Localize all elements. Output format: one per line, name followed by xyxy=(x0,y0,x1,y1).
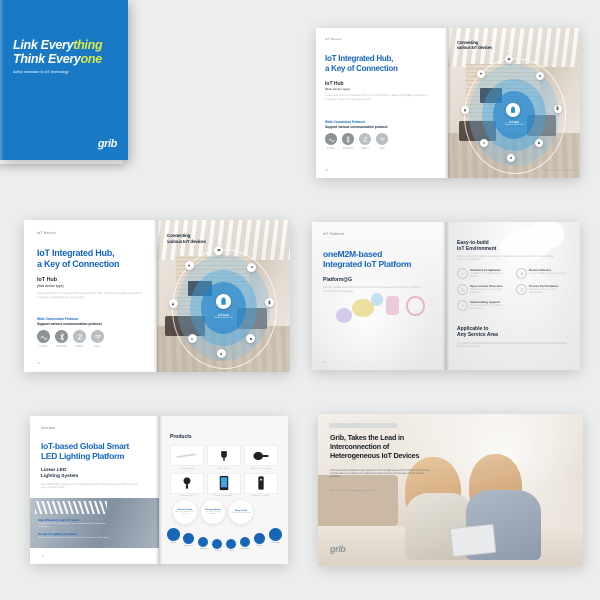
device-node-camera xyxy=(505,55,513,63)
bottom-section-title: Applicable to Any Service Area xyxy=(457,326,498,338)
wave-icon xyxy=(325,133,337,145)
photo-block-2: Design of Lighting and Space Modular des… xyxy=(38,532,116,540)
cover-headline-line1-accent: thing xyxy=(73,38,102,52)
closing-title: Grib, Takes the Lead in Interconnection … xyxy=(330,434,470,460)
feature-text: Proven PerformanceVerified in numerous r… xyxy=(529,284,569,294)
page-title: IoT Integrated Hub, a Key of Connection xyxy=(37,248,149,270)
product-cell[interactable]: Multi sensor xyxy=(207,445,241,470)
service-chip-arc: Home Apartment Hospital Factory Office W… xyxy=(165,528,283,556)
cover-subtitle: Active innovator in IoT technology xyxy=(13,70,109,74)
highlight-circle: Easy Install Plug and play installation xyxy=(229,500,253,524)
hub-center-caption: IoT Hub Wireless device hub xyxy=(214,313,233,319)
cover-headline-line2-accent: one xyxy=(81,52,102,66)
protocol-label: ZigBee xyxy=(361,147,369,150)
tablet-device xyxy=(449,524,496,558)
cube-icon xyxy=(457,284,468,295)
bluetooth-icon xyxy=(342,133,354,145)
wave-icon xyxy=(37,330,50,343)
photo-footnote: * The image is for reference only xyxy=(545,170,574,172)
products-grid: Linear Lighting Multi sensor Basic Smart… xyxy=(170,445,278,497)
protocol-item: Z-Wave xyxy=(37,330,50,348)
service-chip[interactable] xyxy=(226,539,236,549)
page-number: 03 xyxy=(37,361,40,365)
mobile-app-icon xyxy=(207,473,241,494)
service-chip[interactable] xyxy=(183,533,194,544)
protocol-item: Wi-Fi xyxy=(91,330,104,348)
device-node-bulb xyxy=(185,261,194,270)
remote-icon xyxy=(244,473,278,494)
feature-item: Device DeliveryFast and stable device pr… xyxy=(516,268,569,279)
platform-right-page: Easy-to-build IoT Environment Build an I… xyxy=(446,222,580,370)
spread-led: Solution IoT-based Global Smart LED Ligh… xyxy=(30,416,288,564)
section-body: Provide stabilized and efficient IoT ser… xyxy=(323,286,431,293)
service-chip[interactable] xyxy=(254,533,265,544)
smart-bulb-icon xyxy=(244,445,278,466)
product-cell[interactable]: Remote Controller xyxy=(244,473,278,498)
brochure-mockup-canvas: Link Everything Think Everyone Active in… xyxy=(0,0,600,600)
protocol-title: Wide Connection Protocol xyxy=(37,317,78,321)
hub-small-right-page: Connecting various IoT devices xyxy=(448,28,580,178)
linear-lamp-icon xyxy=(170,445,204,466)
service-chip[interactable] xyxy=(167,528,180,541)
shield-icon xyxy=(516,284,527,295)
protocol-label: Bluetooth xyxy=(56,345,67,348)
plug-icon xyxy=(516,268,527,279)
hub-large-left-page: IoT Device IoT Integrated Hub, a Key of … xyxy=(24,220,157,372)
hub-center-node xyxy=(216,294,231,309)
page-number: 07 xyxy=(323,360,326,364)
feature-text: Device DeliveryFast and stable device pr… xyxy=(529,268,566,275)
service-chip[interactable] xyxy=(212,539,222,549)
feature-item: Standard ComplianceoneM2M / TTA standard… xyxy=(457,268,510,279)
closing-brand-logo: grib xyxy=(330,544,345,554)
photo-caption: Connecting various IoT devices xyxy=(457,40,492,50)
spread-hub-small: IoT Device IoT Integrated Hub, a Key of … xyxy=(316,28,580,178)
closing-body: Grib has already contributed to the expa… xyxy=(330,470,434,479)
wifi-icon xyxy=(376,133,388,145)
section-body: Collect and control IoT devices that sup… xyxy=(325,94,430,101)
highlight-circles: Smart Control Wireless control of every … xyxy=(173,500,253,524)
check-badge-icon xyxy=(457,268,468,279)
section-body: Collect and control IoT devices that sup… xyxy=(37,292,145,299)
protocol-label: Wi-Fi xyxy=(95,345,101,348)
spread-closing: Grib, Takes the Lead in Interconnection … xyxy=(318,414,583,566)
device-node-speaker xyxy=(536,72,544,80)
service-chip[interactable] xyxy=(240,537,250,547)
feature-item: Open source StructureBased on open sourc… xyxy=(457,284,510,295)
product-cell[interactable]: Smart sensor xyxy=(170,473,204,498)
product-cell[interactable]: Basic Smart Lighting xyxy=(244,445,278,470)
feature-text: Open source StructureBased on open sourc… xyxy=(470,284,510,294)
blob-purple xyxy=(336,308,352,323)
page-number: 03 xyxy=(325,168,328,172)
wall-shelf xyxy=(329,423,398,428)
page-title: oneM2M-based Integrated IoT Platform xyxy=(323,249,441,270)
photo-caption: Connecting various IoT devices xyxy=(167,233,206,244)
device-node-switch xyxy=(217,349,226,358)
feature-item: Proven PerformanceVerified in numerous r… xyxy=(516,284,569,295)
device-node-phone xyxy=(554,105,562,113)
protocol-item: Bluetooth xyxy=(55,330,68,348)
cover-brand-logo: grib xyxy=(98,138,117,150)
highlight-circle: Energy Saving Up to 80% energy reduction xyxy=(201,500,225,524)
cover-headline-line1-plain: Link Every xyxy=(13,38,73,52)
led-left-page: Solution IoT-based Global Smart LED Ligh… xyxy=(30,416,159,564)
section-subtitle-secondary: (Hub device type) xyxy=(325,87,350,91)
couch-object xyxy=(318,475,398,527)
section-subtitle: IoT Hub xyxy=(37,277,57,283)
protocol-item: Wi-Fi xyxy=(376,133,388,150)
protocol-label: ZigBee xyxy=(76,345,84,348)
blob-pink xyxy=(386,296,399,315)
closing-page: Grib, Takes the Lead in Interconnection … xyxy=(318,414,583,566)
protocol-icon-row: Z-Wave Bluetooth ZigBee xyxy=(325,133,388,150)
right-section-body: Build an IoT service platform for variou… xyxy=(457,255,557,261)
highlight-circle: Smart Control Wireless control of every … xyxy=(173,500,197,524)
protocol-title: Wide Connection Protocol xyxy=(325,120,365,124)
section-subtitle: Linear LED Lighting System xyxy=(41,468,78,480)
section-subtitle: Platform@G xyxy=(323,277,352,283)
hub-center-node xyxy=(506,103,520,117)
hub-small-left-page: IoT Device IoT Integrated Hub, a Key of … xyxy=(316,28,448,178)
device-node-speaker xyxy=(247,263,256,272)
protocol-item: ZigBee xyxy=(359,133,371,150)
cloud-puff xyxy=(529,222,564,249)
spread-platform: IoT Platform oneM2M-based Integrated IoT… xyxy=(312,222,580,370)
service-chip[interactable] xyxy=(269,528,282,541)
eyebrow-label: Solution xyxy=(41,426,55,430)
led-photo-block: High Efficiency Light for Space Energy e… xyxy=(30,498,159,548)
protocol-item: Z-Wave xyxy=(325,133,337,150)
hub-center-caption: IoT Hub Wireless device hub xyxy=(505,121,523,126)
eyebrow-label: IoT Platform xyxy=(323,232,344,236)
sensor-node-icon xyxy=(170,473,204,494)
right-section-title: Easy-to-build IoT Environment xyxy=(457,240,496,252)
feature-text: Interworking supportSupports 3rd party I… xyxy=(470,300,510,310)
cover-headline: Link Everything Think Everyone xyxy=(13,38,121,66)
device-node-bulb xyxy=(477,70,485,78)
link-icon xyxy=(457,300,468,311)
multi-sensor-icon xyxy=(207,445,241,466)
device-node-camera xyxy=(214,246,223,255)
photo-block-1: High Efficiency Light for Space Energy e… xyxy=(38,518,116,529)
hub-large-right-page: Connecting various IoT devices xyxy=(157,220,290,372)
protocol-desc: Support various communication protocol xyxy=(37,322,102,326)
section-subtitle-secondary: (Hub device type) xyxy=(37,284,64,288)
protocol-label: Wi-Fi xyxy=(379,147,385,150)
protocol-label: Z-Wave xyxy=(327,147,335,150)
bluetooth-icon xyxy=(55,330,68,343)
products-title: Products xyxy=(170,434,192,440)
wifi-icon xyxy=(91,330,104,343)
page-title: IoT-based Global Smart LED Lighting Plat… xyxy=(41,441,153,461)
device-node-sensor xyxy=(480,139,488,147)
device-node-lock xyxy=(169,299,178,308)
eyebrow-label: IoT Device xyxy=(325,37,342,41)
device-node-sensor xyxy=(188,334,197,343)
bottom-section-body: The platform can be applied to various f… xyxy=(457,342,567,348)
ring-pink xyxy=(406,296,425,316)
led-right-page: Products Linear Lighting Multi sensor Ba… xyxy=(159,416,288,564)
protocol-item: ZigBee xyxy=(73,330,86,348)
protocol-icon-row: Z-Wave Bluetooth ZigBee xyxy=(37,330,104,348)
device-node-phone xyxy=(265,298,274,307)
feature-grid: Standard ComplianceoneM2M / TTA standard… xyxy=(457,268,569,311)
cover-headline-line2-plain: Think Every xyxy=(13,52,81,66)
protocol-label: Bluetooth xyxy=(343,147,353,150)
closing-signature: Robert H. Chase - Thursday, August 20th,… xyxy=(330,490,434,492)
zigbee-icon xyxy=(73,330,86,343)
protocol-label: Z-Wave xyxy=(39,345,48,348)
section-body: Essential flexible, scalable and smart l… xyxy=(41,483,141,490)
cover-mockup: Link Everything Think Everyone Active in… xyxy=(0,0,130,162)
spread-hub-large: IoT Device IoT Integrated Hub, a Key of … xyxy=(24,220,290,372)
protocol-desc: Support various communication protocol xyxy=(325,125,388,129)
zigbee-icon xyxy=(359,133,371,145)
platform-left-page: IoT Platform oneM2M-based Integrated IoT… xyxy=(312,222,446,370)
page-title: IoT Integrated Hub, a Key of Connection xyxy=(325,54,433,74)
product-cell[interactable]: Linear Lighting xyxy=(170,445,204,470)
page-number: 11 xyxy=(41,554,44,558)
cover-front-page: Link Everything Think Everyone Active in… xyxy=(0,0,128,160)
service-chip[interactable] xyxy=(198,537,208,547)
feature-text: Standard ComplianceoneM2M / TTA standard… xyxy=(470,268,510,278)
protocol-item: Bluetooth xyxy=(342,133,354,150)
eyebrow-label: IoT Device xyxy=(37,231,56,235)
feature-item: Interworking supportSupports 3rd party I… xyxy=(457,300,510,311)
product-cell[interactable]: Smart lighting APP xyxy=(207,473,241,498)
